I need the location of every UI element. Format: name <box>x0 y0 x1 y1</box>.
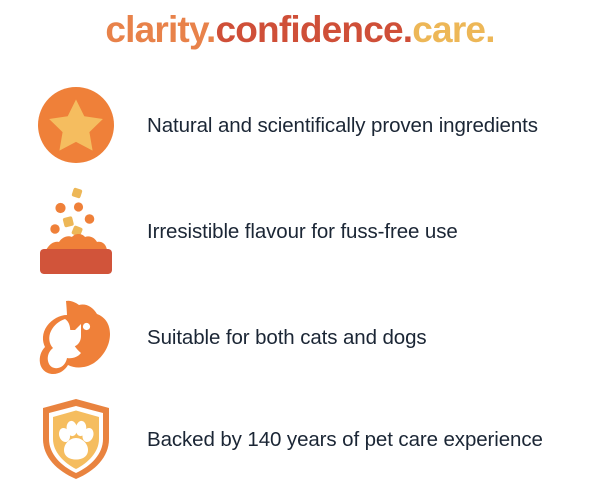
list-item: Backed by 140 years of pet care experien… <box>0 389 600 489</box>
benefit-icon-cell <box>0 72 147 179</box>
benefit-text: Backed by 140 years of pet care experien… <box>147 425 555 454</box>
headline-word-clarity: clarity. <box>105 9 215 50</box>
benefit-text: Natural and scientifically proven ingred… <box>147 111 550 140</box>
star-badge-icon <box>37 86 115 164</box>
list-item: Irresistible flavour for fuss-free use <box>0 178 600 285</box>
benefit-icon-cell <box>0 386 147 493</box>
benefit-text: Suitable for both cats and dogs <box>147 323 439 352</box>
benefits-list: Natural and scientifically proven ingred… <box>0 72 600 489</box>
page-title: clarity.confidence.care. <box>0 6 600 54</box>
benefit-icon-cell <box>0 284 147 391</box>
headline-word-care: care. <box>412 9 494 50</box>
list-item: Natural and scientifically proven ingred… <box>0 72 600 178</box>
benefits-panel: clarity.confidence.care. Natural and sci… <box>0 0 600 500</box>
paw-shield-icon <box>36 397 116 481</box>
headline-word-confidence: confidence. <box>215 9 412 50</box>
benefit-text: Irresistible flavour for fuss-free use <box>147 217 470 246</box>
cat-dog-icon <box>36 297 116 377</box>
food-bowl-icon <box>37 186 115 278</box>
benefit-icon-cell <box>0 178 147 285</box>
list-item: Suitable for both cats and dogs <box>0 285 600 389</box>
